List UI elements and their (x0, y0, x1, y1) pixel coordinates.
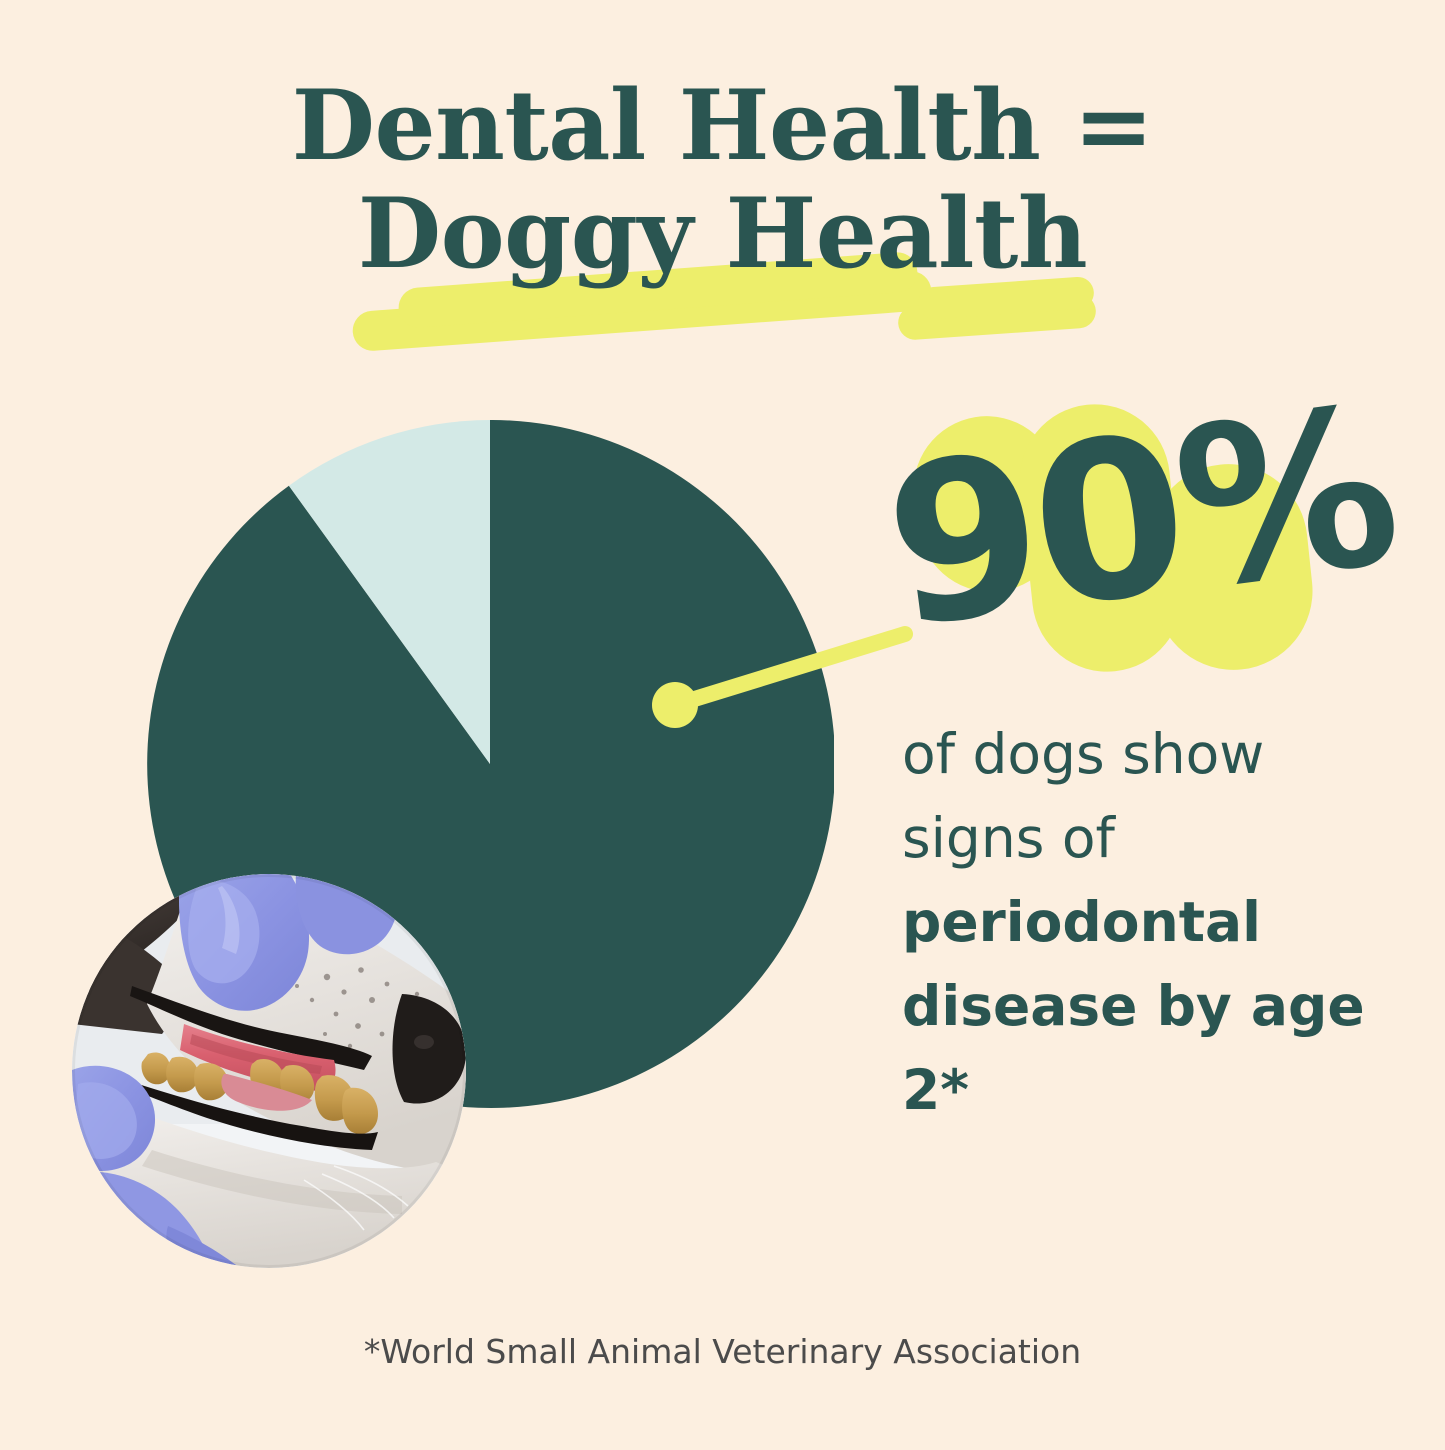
page-title-line-2: Doggy Health (0, 180, 1445, 288)
page-title: Dental Health = Doggy Health (0, 72, 1445, 288)
stat-percentage-value: 90% (875, 372, 1405, 666)
stat-percentage: 90% (880, 398, 1360, 698)
stat-description: of dogs show signs of periodontal diseas… (902, 712, 1392, 1132)
highlight-brush-stroke-3 (897, 293, 1097, 341)
stat-description-regular: of dogs show signs of (902, 722, 1264, 870)
page-title-line-1: Dental Health = (0, 72, 1445, 180)
dog-dental-exam-photo (72, 874, 466, 1268)
source-footnote: *World Small Animal Veterinary Associati… (0, 1332, 1445, 1371)
stat-description-bold: periodontal disease by age 2* (902, 890, 1365, 1122)
